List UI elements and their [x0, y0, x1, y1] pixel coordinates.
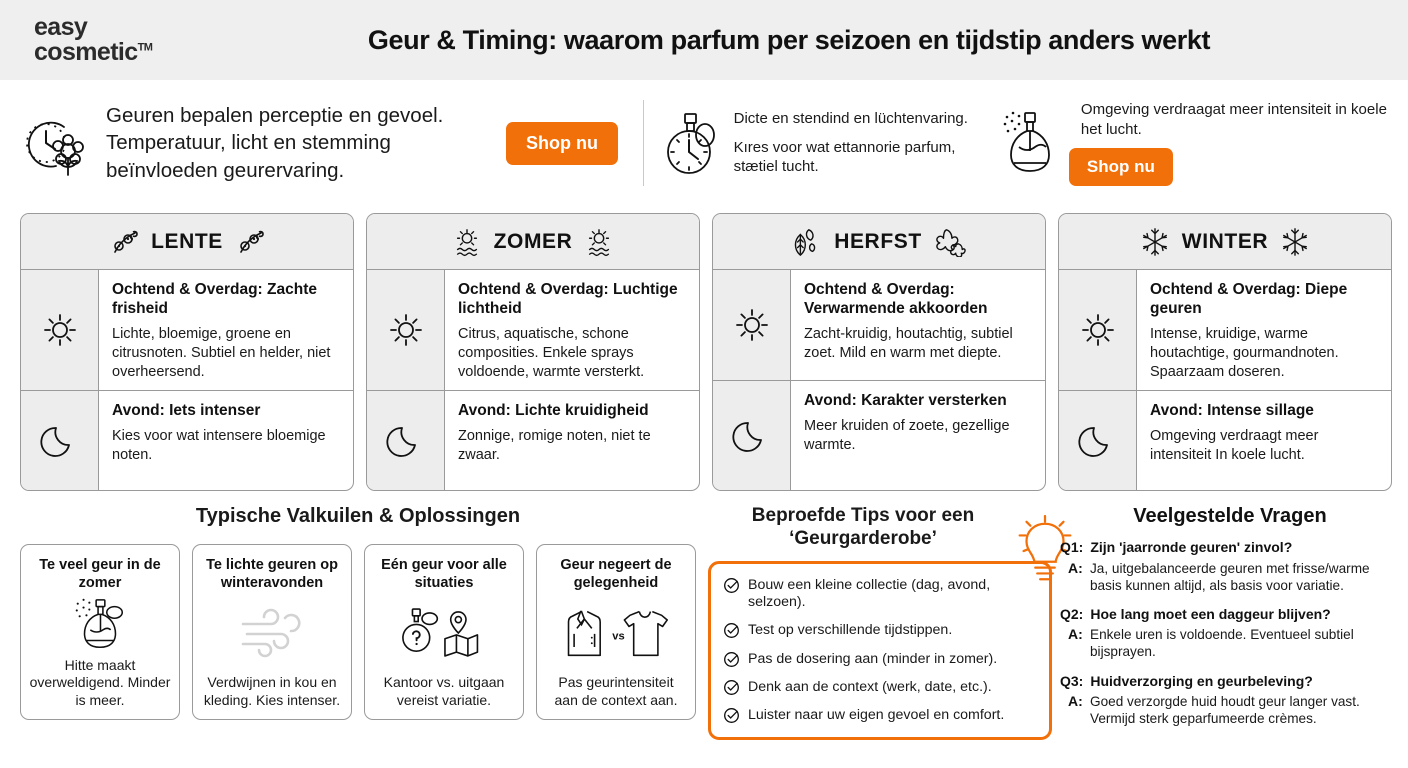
season-row-desc: Omgeving verdraagt meer intensiteit In k… — [1150, 427, 1379, 465]
faq-answer-tag: A: — [1060, 693, 1083, 727]
check-circle-icon — [723, 622, 740, 639]
tips-heading-line-1: Beproefde Tips voor een — [708, 505, 1018, 528]
check-circle-icon — [723, 651, 740, 668]
snowflake-icon — [1140, 227, 1170, 257]
blossom-icon — [235, 228, 265, 256]
season-row-title: Avond: Karakter versterken — [804, 392, 1033, 411]
faq-answer-text: Ja, uitgebalanceerde geuren met frisse/w… — [1090, 560, 1400, 594]
season-row-title: Ochtend & Overdag: Luchtige lichtheid — [458, 281, 687, 318]
season-header-lente: LENTE — [21, 214, 353, 270]
faq-item: Q1: Zijn 'jaarronde geuren' zinvol? A: J… — [1060, 539, 1400, 594]
intro-middle-p2: Kıres voor wat ettannorie parfum, stætie… — [734, 138, 969, 178]
faq-question-tag: Q3: — [1060, 673, 1083, 691]
faq-answer-line: A: Enkele uren is voldoende. Eventueel s… — [1060, 626, 1400, 660]
intro-strip: Geuren bepalen perceptie en gevoel. Temp… — [0, 80, 1408, 206]
season-row-title: Avond: Iets intenser — [112, 402, 341, 421]
faq-answer-line: A: Goed verzorgde huid houdt geur langer… — [1060, 693, 1400, 727]
shop-now-button-primary[interactable]: Shop nu — [506, 122, 618, 165]
pitfall-title: Te veel geur in de zomer — [29, 557, 171, 592]
season-body-evening: Avond: Iets intenser Kies voor wat inten… — [99, 391, 353, 490]
pitfall-title: Geur negeert de gelegenheid — [545, 557, 687, 592]
pitfall-title: Eén geur voor alle situaties — [373, 557, 515, 592]
season-row-title: Avond: Intense sillage — [1150, 402, 1379, 421]
intro-middle-text: Dicte en stendind en lüchtenvaring. Kıre… — [734, 109, 969, 178]
pitfall-desc: Hitte maakt overweldigend. Minder is mee… — [29, 657, 171, 709]
tip-text: Bouw een kleine collectie (dag, avond, s… — [748, 577, 1039, 612]
season-header-herfst: HERFST — [713, 214, 1045, 270]
pitfalls-heading: Typische Valkuilen & Oplossingen — [20, 505, 696, 528]
pitfalls-section: Typische Valkuilen & Oplossingen Te veel… — [20, 505, 696, 720]
intro-right-col: Omgeving verdraagat meer intensiteit in … — [1069, 100, 1408, 187]
tip-text: Pas de dosering aan (minder in zomer). — [748, 651, 997, 668]
blossom-icon — [109, 228, 139, 256]
check-circle-icon — [723, 679, 740, 696]
season-body-day: Ochtend & Overdag: Diepe geuren Intense,… — [1137, 270, 1391, 390]
tip-item: Denk aan de context (werk, date, etc.). — [723, 679, 1039, 696]
pitfall-title: Te lichte geuren op winteravonden — [201, 557, 343, 592]
check-circle-icon — [723, 707, 740, 724]
intro-right-text: Omgeving verdraagat meer intensiteit in … — [1081, 100, 1408, 140]
sun-icon — [713, 270, 791, 380]
check-circle-icon — [723, 577, 740, 594]
logo-line-2: cosmeticTM — [34, 40, 152, 66]
season-card-lente: LENTE — [20, 213, 354, 491]
season-row-title: Ochtend & Overdag: Diepe geuren — [1150, 281, 1379, 318]
faq-question-line: Q1: Zijn 'jaarronde geuren' zinvol? — [1060, 539, 1400, 557]
faq-question-text: Zijn 'jaarronde geuren' zinvol? — [1090, 539, 1292, 557]
season-row-desc: Zonnige, romige noten, niet te zwaar. — [458, 427, 687, 465]
faq-question-line: Q3: Huidverzorging en geurbeleving? — [1060, 673, 1400, 691]
season-body-day: Ochtend & Overdag: Zachte frisheid Licht… — [99, 270, 353, 390]
tip-text: Test op verschillende tijdstippen. — [748, 622, 952, 639]
season-body-evening: Avond: Intense sillage Omgeving verdraag… — [1137, 391, 1391, 490]
intro-left-text: Geuren bepalen perceptie en gevoel. Temp… — [106, 102, 506, 184]
moon-icon — [713, 381, 791, 491]
season-card-zomer: ZOMER Ochtend & Overda — [366, 213, 700, 491]
leaf-icon — [790, 227, 822, 257]
season-body-day: Ochtend & Overdag: Verwarmende akkoorden… — [791, 270, 1045, 380]
season-row-title: Ochtend & Overdag: Verwarmende akkoorden — [804, 281, 1033, 318]
faq-question-tag: Q2: — [1060, 606, 1083, 624]
tip-item: Luister naar uw eigen gevoel en comfort. — [723, 707, 1039, 724]
season-row-day: Ochtend & Overdag: Diepe geuren Intense,… — [1059, 270, 1391, 391]
season-header-zomer: ZOMER — [367, 214, 699, 270]
pitfall-card-2: Te lichte geuren op winteravonden Verdwi… — [192, 544, 352, 720]
pitfalls-row: Te veel geur in de zomer — [20, 544, 696, 720]
trademark-symbol: TM — [138, 42, 153, 54]
season-card-winter: WINTER Oc — [1058, 213, 1392, 491]
tips-heading: Beproefde Tips voor een ‘Geurgarderobe’ — [708, 505, 1052, 551]
perfume-spray-icon — [995, 107, 1057, 179]
season-row-evening: Avond: Iets intenser Kies voor wat inten… — [21, 391, 353, 490]
moon-icon — [1059, 391, 1137, 490]
tip-text: Luister naar uw eigen gevoel en comfort. — [748, 707, 1004, 724]
moon-icon — [367, 391, 445, 490]
tip-item: Test op verschillende tijdstippen. — [723, 622, 1039, 639]
season-row-evening: Avond: Lichte kruidigheid Zonnige, romig… — [367, 391, 699, 490]
faq-answer-line: A: Ja, uitgebalanceerde geuren met friss… — [1060, 560, 1400, 594]
season-row-desc: Citrus, aquatische, schone composities. … — [458, 325, 687, 382]
faq-question-tag: Q1: — [1060, 539, 1083, 557]
faq-answer-tag: A: — [1060, 560, 1083, 594]
shop-now-button-secondary[interactable]: Shop nu — [1069, 148, 1173, 186]
pitfall-desc: Pas geurintensiteit aan de context aan. — [545, 674, 687, 709]
season-row-desc: Kies voor wat intensere bloemige noten. — [112, 427, 341, 465]
intro-divider — [643, 100, 644, 186]
clock-flower-icon — [20, 107, 92, 179]
season-row-day: Ochtend & Overdag: Zachte frisheid Licht… — [21, 270, 353, 391]
season-body-evening: Avond: Lichte kruidigheid Zonnige, romig… — [445, 391, 699, 490]
pitfall-desc: Verdwijnen in kou en kleding. Kies inten… — [201, 674, 343, 709]
svg-text:vs: vs — [612, 631, 624, 643]
wind-icon — [239, 592, 305, 674]
intro-middle-block: Dicte en stendind en lüchtenvaring. Kıre… — [662, 109, 969, 178]
intro-left-block: Geuren bepalen perceptie en gevoel. Temp… — [0, 102, 635, 184]
season-row-day: Ochtend & Overdag: Verwarmende akkoorden… — [713, 270, 1045, 381]
season-row-desc: Zacht-kruidig, houtachtig, subtiel zoet.… — [804, 325, 1033, 363]
season-row-desc: Meer kruiden of zoete, gezellige warmte. — [804, 417, 1033, 455]
perfume-clock-icon — [662, 110, 722, 176]
maple-leaf-icon — [934, 227, 968, 257]
season-card-herfst: HERFST Ochtend & Overdag: Verwarmen — [712, 213, 1046, 491]
faq-question-text: Huidverzorging en geurbeleving? — [1090, 673, 1312, 691]
season-row-day: Ochtend & Overdag: Luchtige lichtheid Ci… — [367, 270, 699, 391]
season-header-winter: WINTER — [1059, 214, 1391, 270]
intro-middle-p1: Dicte en stendind en lüchtenvaring. — [734, 109, 969, 129]
intro-left-line-1: Geuren bepalen perceptie en gevoel. — [106, 102, 506, 129]
intro-left-line-2: Temperatuur, licht en stemming — [106, 129, 506, 156]
tip-text: Denk aan de context (werk, date, etc.). — [748, 679, 992, 696]
perfume-spray-icon — [70, 592, 130, 657]
sun-icon — [1059, 270, 1137, 390]
logo-line-1: easy — [34, 15, 230, 41]
pitfall-card-1: Te veel geur in de zomer — [20, 544, 180, 720]
page-title: Geur & Timing: waarom parfum per seizoen… — [230, 25, 1408, 56]
season-name-zomer: ZOMER — [494, 230, 573, 254]
faq-heading: Veelgestelde Vragen — [1060, 505, 1400, 528]
logo-word: cosmetic — [34, 38, 138, 66]
faq-section: Veelgestelde Vragen Q1: Zijn 'jaarronde … — [1060, 505, 1400, 739]
infographic-page: easy cosmeticTM Geur & Timing: waarom pa… — [0, 0, 1408, 768]
intro-left-line-3: beïnvloeden geurervaring. — [106, 157, 506, 184]
page-header: easy cosmeticTM Geur & Timing: waarom pa… — [0, 0, 1408, 80]
snowflake-icon — [1280, 227, 1310, 257]
tip-item: Pas de dosering aan (minder in zomer). — [723, 651, 1039, 668]
season-row-evening: Avond: Intense sillage Omgeving verdraag… — [1059, 391, 1391, 490]
sun-icon — [367, 270, 445, 390]
pitfall-card-3: Eén geur voor alle situaties — [364, 544, 524, 720]
faq-item: Q2: Hoe lang moet een daggeur blijven? A… — [1060, 606, 1400, 661]
season-name-winter: WINTER — [1182, 230, 1268, 254]
season-cards: LENTE — [20, 213, 1392, 491]
moon-icon — [21, 391, 99, 490]
faq-answer-text: Goed verzorgde huid houdt geur langer va… — [1090, 693, 1400, 727]
blazer-vs-tshirt-icon: vs — [564, 592, 668, 674]
faq-answer-text: Enkele uren is voldoende. Eventueel subt… — [1090, 626, 1400, 660]
season-row-evening: Avond: Karakter versterken Meer kruiden … — [713, 381, 1045, 491]
brand-logo: easy cosmeticTM — [0, 15, 230, 66]
season-body-evening: Avond: Karakter versterken Meer kruiden … — [791, 381, 1045, 491]
perfume-question-map-icon — [401, 592, 487, 674]
pitfall-card-4: Geur negeert de gelegenheid vs Pas geuri… — [536, 544, 696, 720]
tips-box: Bouw een kleine collectie (dag, avond, s… — [708, 561, 1052, 741]
season-row-desc: Lichte, bloemige, groene en citrusnoten.… — [112, 325, 341, 382]
season-row-title: Avond: Lichte kruidigheid — [458, 402, 687, 421]
season-row-desc: Intense, kruidige, warme houtachtige, go… — [1150, 325, 1379, 382]
season-row-title: Ochtend & Overdag: Zachte frisheid — [112, 281, 341, 318]
faq-answer-tag: A: — [1060, 626, 1083, 660]
tip-item: Bouw een kleine collectie (dag, avond, s… — [723, 577, 1039, 612]
tips-heading-line-2: ‘Geurgarderobe’ — [708, 528, 1018, 551]
sun-icon — [21, 270, 99, 390]
sun-water-icon — [452, 227, 482, 257]
season-name-lente: LENTE — [151, 230, 223, 254]
faq-question-line: Q2: Hoe lang moet een daggeur blijven? — [1060, 606, 1400, 624]
season-name-herfst: HERFST — [834, 230, 922, 254]
season-body-day: Ochtend & Overdag: Luchtige lichtheid Ci… — [445, 270, 699, 390]
pitfall-desc: Kantoor vs. uitgaan vereist variatie. — [373, 674, 515, 709]
tips-section: Beproefde Tips voor een ‘Geurgarderobe’ … — [708, 505, 1052, 740]
intro-right-block: Omgeving verdraagat meer intensiteit in … — [995, 100, 1408, 187]
faq-item: Q3: Huidverzorging en geurbeleving? A: G… — [1060, 673, 1400, 728]
faq-question-text: Hoe lang moet een daggeur blijven? — [1090, 606, 1330, 624]
sun-water-icon — [584, 227, 614, 257]
